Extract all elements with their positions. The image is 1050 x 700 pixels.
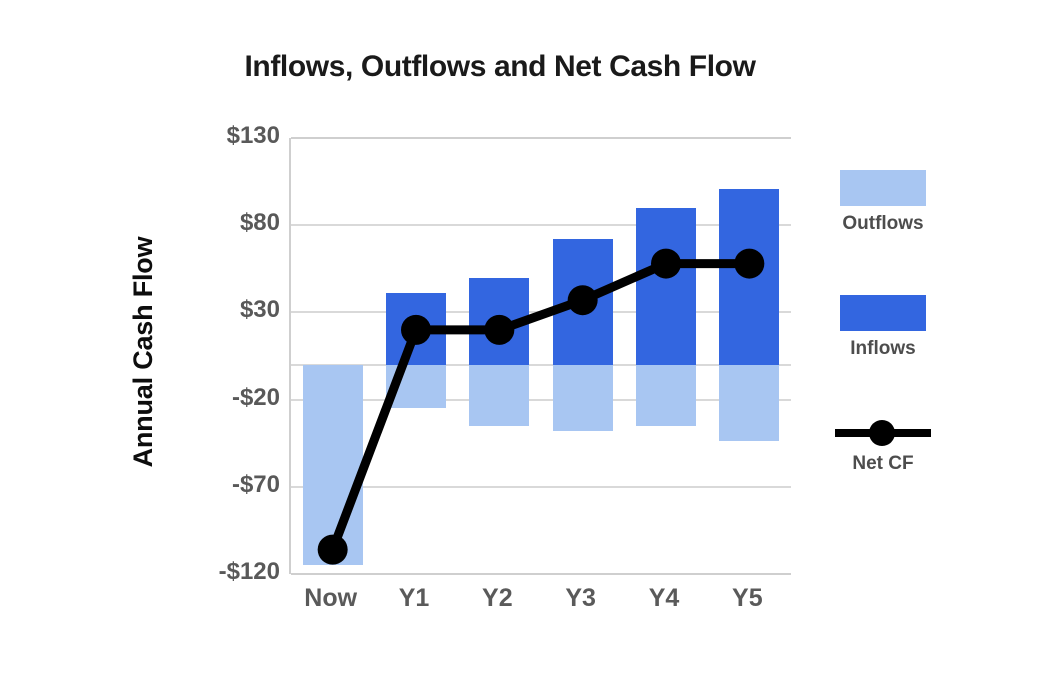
x-tick-label: Y4 xyxy=(622,584,705,613)
y-axis-tick-labels: $130$80$30-$20-$70-$120 xyxy=(180,138,280,574)
net-cf-marker[interactable] xyxy=(568,285,598,315)
y-axis-title: Annual Cash Flow xyxy=(126,0,160,182)
legend-entry[interactable]: Outflows xyxy=(818,170,948,235)
x-axis-tick-labels: NowY1Y2Y3Y4Y5 xyxy=(289,584,789,624)
x-tick-label: Y3 xyxy=(539,584,622,613)
chart-title: Inflows, Outflows and Net Cash Flow xyxy=(120,50,880,84)
net-cf-marker[interactable] xyxy=(484,315,514,345)
y-tick-label: $30 xyxy=(186,296,280,324)
x-tick-label: Y5 xyxy=(706,584,789,613)
x-tick-label: Y2 xyxy=(456,584,539,613)
y-tick-label: -$20 xyxy=(186,384,280,412)
y-axis-title-label: Annual Cash Flow xyxy=(126,182,160,522)
legend-dot-icon xyxy=(869,420,895,446)
net-cf-marker[interactable] xyxy=(734,249,764,279)
legend-entry[interactable]: Inflows xyxy=(818,295,948,360)
plot-area xyxy=(289,138,789,574)
y-tick-label: -$120 xyxy=(186,558,280,586)
y-tick-label: $130 xyxy=(186,122,280,150)
legend-label: Inflows xyxy=(818,338,948,360)
legend-entry[interactable]: Net CF xyxy=(818,420,948,475)
net-cf-marker[interactable] xyxy=(318,535,348,565)
chart-figure: Inflows, Outflows and Net Cash Flow Annu… xyxy=(0,0,1050,700)
y-tick-label: $80 xyxy=(186,209,280,237)
x-tick-label: Y1 xyxy=(372,584,455,613)
legend-label: Outflows xyxy=(818,213,948,235)
net-cf-line xyxy=(333,264,750,550)
x-tick-label: Now xyxy=(289,584,372,613)
legend-label: Net CF xyxy=(818,453,948,475)
net-cf-marker[interactable] xyxy=(401,315,431,345)
y-tick-label: -$70 xyxy=(186,471,280,499)
legend-swatch-icon xyxy=(840,295,926,331)
legend-line-dot-icon xyxy=(835,420,931,446)
net-cf-line-series xyxy=(291,138,791,574)
legend-swatch-icon xyxy=(840,170,926,206)
net-cf-marker[interactable] xyxy=(651,249,681,279)
